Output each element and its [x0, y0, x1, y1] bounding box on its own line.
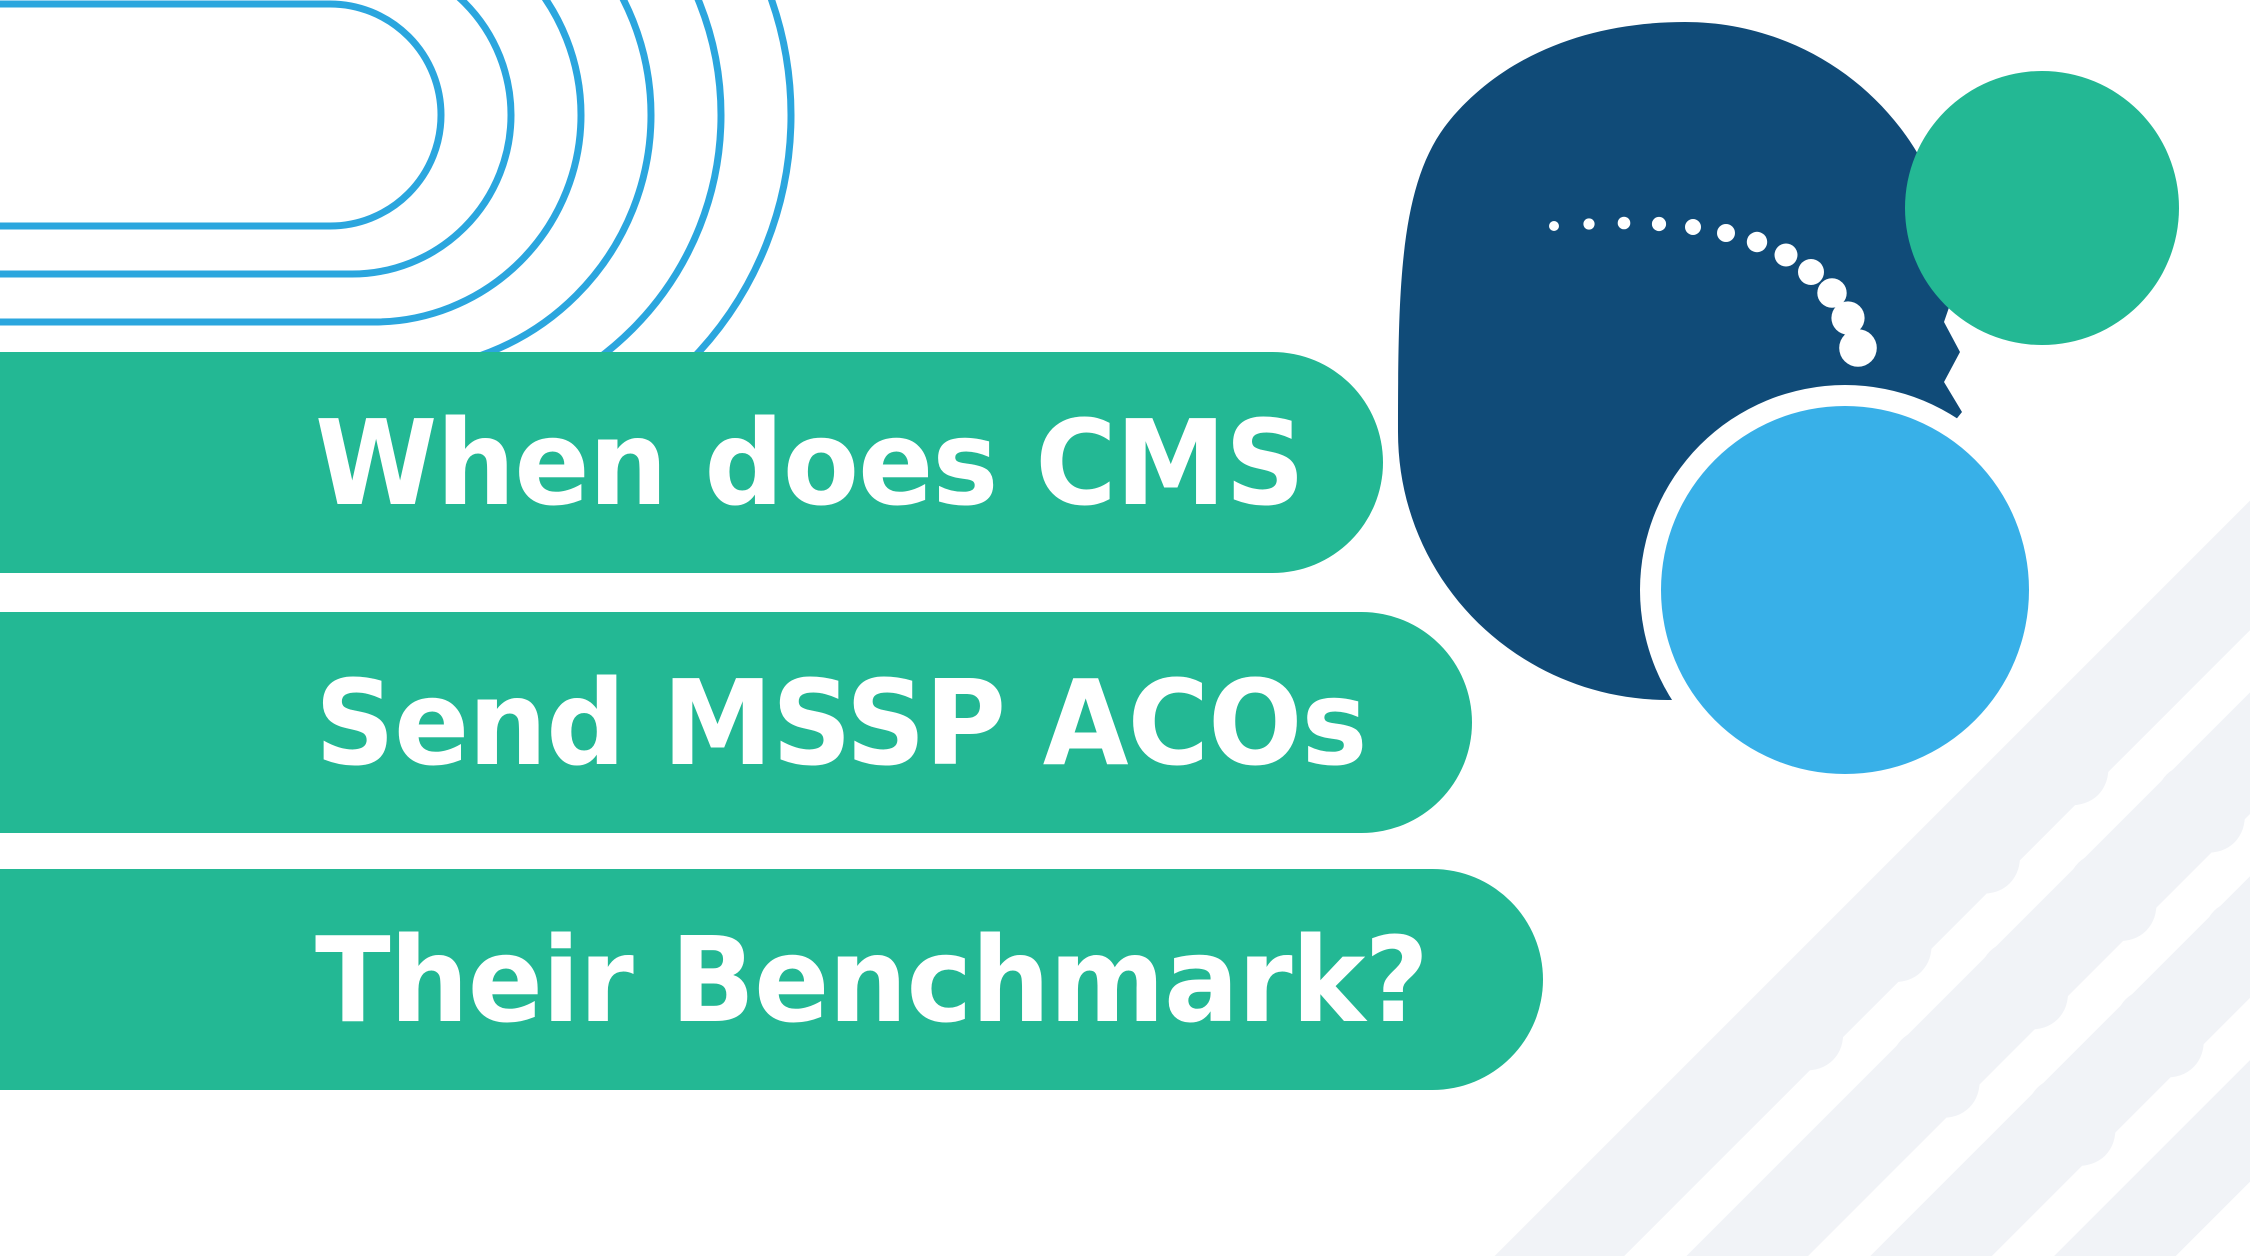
poster-canvas: When does CMS Send MSSP ACOs Their Bench… — [0, 0, 2250, 1256]
logo-cluster — [0, 0, 2250, 1256]
faq-circle — [1661, 406, 2029, 774]
green-accent-circle — [1905, 71, 2179, 345]
